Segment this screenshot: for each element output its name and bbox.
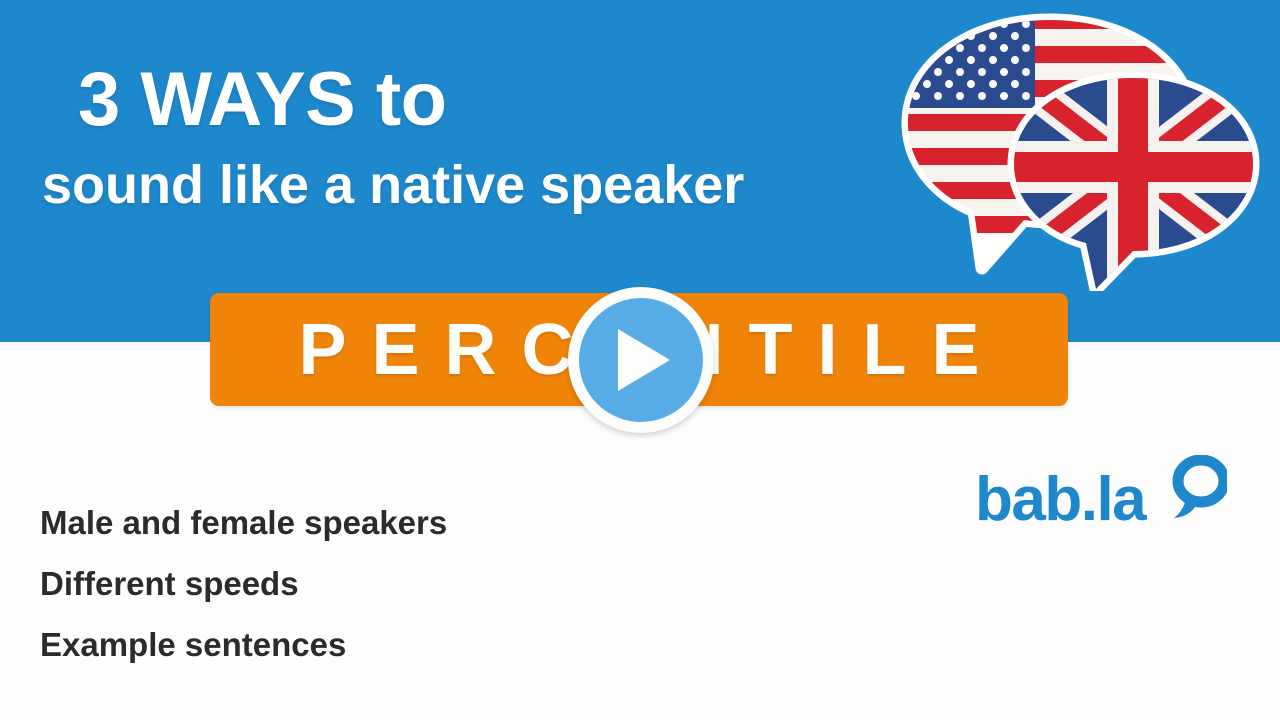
speech-bubble-icon <box>1171 455 1227 521</box>
uk-flag-speech-bubble-icon <box>1006 70 1261 291</box>
subheadline: sound like a native speaker <box>42 158 882 212</box>
list-item: Male and female speakers <box>40 492 740 553</box>
babla-wordmark: bab.la <box>975 469 1145 531</box>
flag-bubbles-graphic <box>890 6 1280 291</box>
headline: 3 WAYS to <box>78 62 882 138</box>
play-button[interactable] <box>568 287 714 433</box>
list-item: Example sentences <box>40 614 740 675</box>
video-thumbnail-slide: 3 WAYS to sound like a native speaker <box>0 0 1280 720</box>
flag-bubbles-svg <box>890 6 1280 291</box>
list-item: Different speeds <box>40 553 740 614</box>
feature-list: Male and female speakers Different speed… <box>40 492 740 675</box>
play-icon <box>618 329 670 391</box>
title-block: 3 WAYS to sound like a native speaker <box>42 62 882 212</box>
babla-logo[interactable]: bab.la <box>975 455 1215 555</box>
